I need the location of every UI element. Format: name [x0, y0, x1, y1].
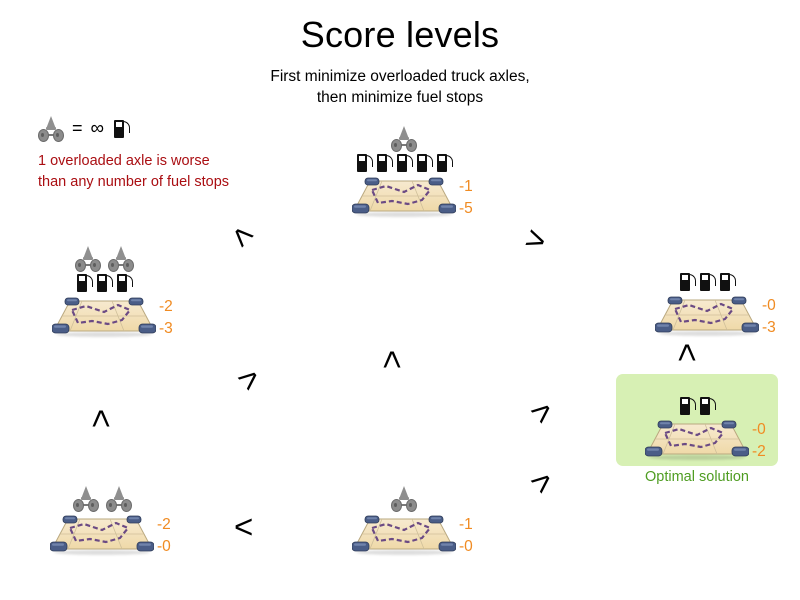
soft-score: -0	[456, 537, 473, 556]
node-icon-group	[75, 246, 134, 292]
hard-score: -0	[759, 296, 776, 315]
score-group: -1-5	[456, 177, 473, 218]
fuel-pump-icon	[114, 119, 129, 138]
overloaded-axle-row	[391, 486, 417, 510]
comparison-operator: <	[232, 361, 268, 399]
fuel-pump-icon	[680, 272, 695, 291]
comparison-operator: <	[525, 394, 561, 432]
infinity-symbol: ∞	[91, 119, 109, 138]
soft-score: -3	[759, 318, 776, 337]
node-icon-group	[680, 396, 715, 415]
page-title: Score levels	[0, 14, 800, 56]
overloaded-axle-icon	[108, 246, 134, 270]
node-icon-group	[391, 486, 417, 510]
fuel-pump-icon	[117, 273, 132, 292]
fuel-pump-row	[357, 153, 452, 172]
vehicle-routing-map	[50, 514, 154, 554]
page-subtitle-line-1: First minimize overloaded truck axles,	[0, 66, 800, 87]
fuel-pump-icon	[680, 396, 695, 415]
solution-node[interactable]: -0-2	[645, 396, 749, 459]
fuel-pump-row	[77, 273, 132, 292]
overloaded-axle-icon	[106, 486, 132, 510]
comparison-operator: <	[224, 217, 261, 254]
page-subtitle-line-2: then minimize fuel stops	[0, 87, 800, 108]
soft-score: -3	[156, 319, 173, 338]
soft-score: -2	[749, 442, 766, 461]
soft-score: -0	[154, 537, 171, 556]
comparison-operator: <	[234, 510, 253, 543]
vehicle-routing-map	[352, 176, 456, 216]
legend: = ∞ 1 overloaded axle is worse than any …	[38, 113, 229, 193]
overloaded-axle-icon	[73, 486, 99, 510]
fuel-pump-icon	[97, 273, 112, 292]
fuel-pump-icon	[377, 153, 392, 172]
hard-score: -1	[456, 515, 473, 534]
soft-score: -5	[456, 199, 473, 218]
comparison-operator: <	[376, 350, 409, 369]
overloaded-axle-row	[391, 126, 417, 150]
fuel-pump-row	[680, 396, 715, 415]
score-levels-diagram: Score levels First minimize overloaded t…	[0, 0, 800, 600]
vehicle-routing-map	[655, 295, 759, 335]
comparison-operator: <	[85, 409, 118, 428]
fuel-pump-icon	[357, 153, 372, 172]
score-group: -0-2	[749, 420, 766, 461]
score-group: -0-3	[759, 296, 776, 337]
vehicle-routing-map	[52, 296, 156, 336]
equals-sign: =	[70, 119, 85, 137]
comparison-operator: <	[671, 343, 704, 362]
fuel-pump-icon	[417, 153, 432, 172]
page-subtitle: First minimize overloaded truck axles, t…	[0, 66, 800, 108]
overloaded-axle-icon	[38, 116, 64, 140]
fuel-pump-row	[680, 272, 735, 291]
overloaded-axle-row	[73, 486, 132, 510]
fuel-pump-icon	[720, 272, 735, 291]
solution-node[interactable]: -1-5	[352, 126, 456, 216]
solution-node[interactable]: -0-3	[655, 272, 759, 335]
fuel-pump-icon	[77, 273, 92, 292]
legend-note-line-1: 1 overloaded axle is worse	[38, 151, 229, 172]
vehicle-routing-map	[352, 514, 456, 554]
overloaded-axle-icon	[391, 126, 417, 150]
legend-note-line-2: than any number of fuel stops	[38, 172, 229, 193]
solution-node[interactable]: -1-0	[352, 486, 456, 554]
score-group: -2-0	[154, 515, 171, 556]
fuel-pump-icon	[397, 153, 412, 172]
score-group: -2-3	[156, 297, 173, 338]
node-icon-group	[357, 126, 452, 172]
overloaded-axle-row	[75, 246, 134, 270]
hard-score: -0	[749, 420, 766, 439]
hard-score: -2	[154, 515, 171, 534]
overloaded-axle-icon	[75, 246, 101, 270]
overloaded-axle-icon	[391, 486, 417, 510]
fuel-pump-icon	[700, 396, 715, 415]
legend-equation: = ∞	[38, 113, 229, 143]
hard-score: -1	[456, 177, 473, 196]
solution-node[interactable]: -2-0	[50, 486, 154, 554]
score-group: -1-0	[456, 515, 473, 556]
comparison-operator: <	[525, 464, 561, 502]
legend-note: 1 overloaded axle is worse than any numb…	[38, 151, 229, 193]
node-icon-group	[680, 272, 735, 291]
hard-score: -2	[156, 297, 173, 316]
node-icon-group	[73, 486, 132, 510]
vehicle-routing-map	[645, 419, 749, 459]
fuel-pump-icon	[437, 153, 452, 172]
comparison-operator: <	[521, 222, 550, 260]
solution-node[interactable]: -2-3	[52, 246, 156, 336]
fuel-pump-icon	[700, 272, 715, 291]
optimal-solution-label: Optimal solution	[616, 469, 778, 485]
